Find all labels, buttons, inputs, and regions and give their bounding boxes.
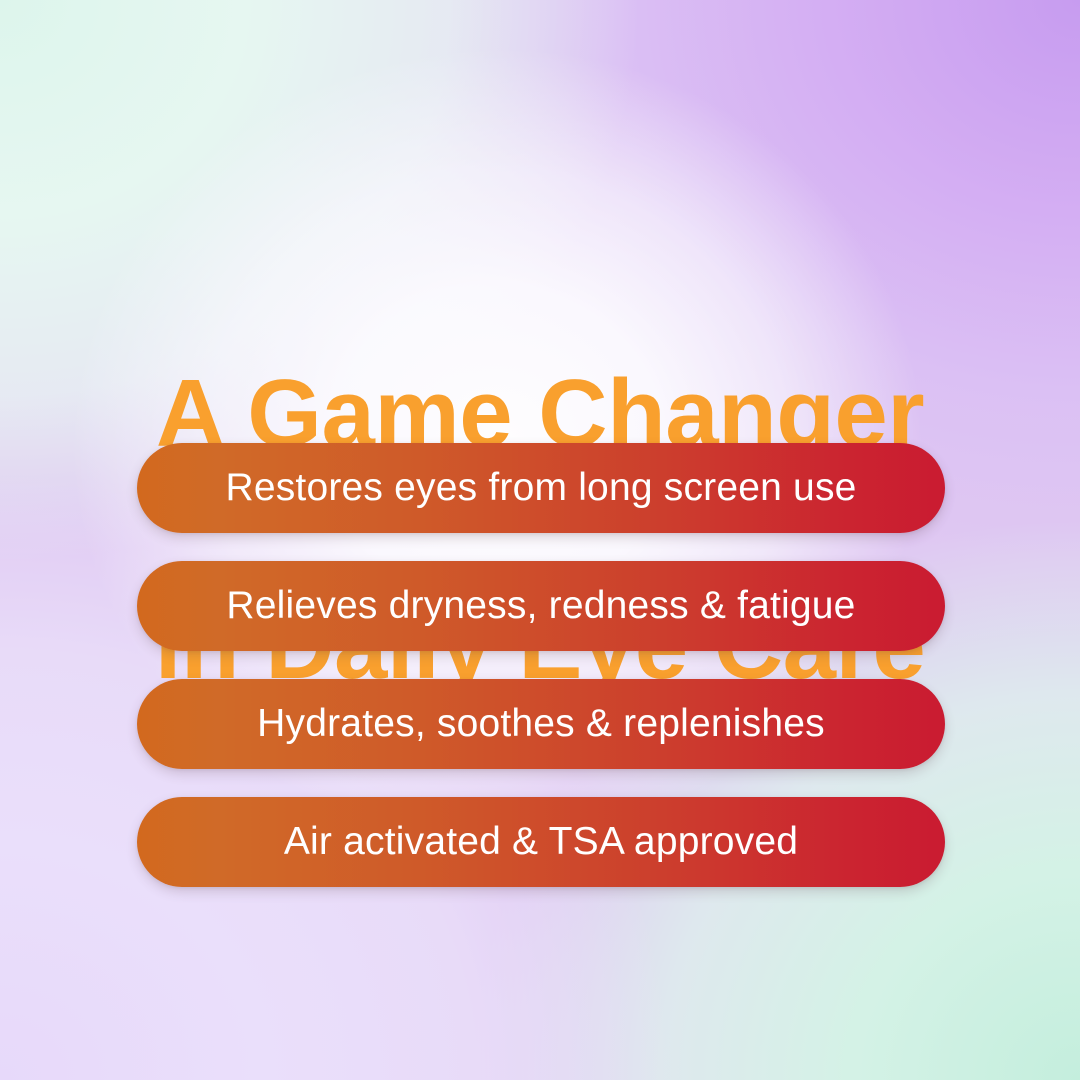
benefit-pill-2: Relieves dryness, redness & fatigue — [137, 561, 945, 651]
benefits-list: Restores eyes from long screen use Relie… — [137, 443, 945, 887]
benefit-label-4: Air activated & TSA approved — [284, 819, 798, 865]
benefit-pill-4: Air activated & TSA approved — [137, 797, 945, 887]
benefit-label-1: Restores eyes from long screen use — [225, 465, 856, 511]
promo-poster: A Game Changer in Daily Eye Care Restore… — [0, 0, 1080, 1080]
benefit-pill-3: Hydrates, soothes & replenishes — [137, 679, 945, 769]
benefit-pill-1: Restores eyes from long screen use — [137, 443, 945, 533]
benefit-label-2: Relieves dryness, redness & fatigue — [226, 583, 855, 629]
poster-content: A Game Changer in Daily Eye Care Restore… — [0, 0, 1080, 1080]
benefit-label-3: Hydrates, soothes & replenishes — [257, 701, 825, 747]
